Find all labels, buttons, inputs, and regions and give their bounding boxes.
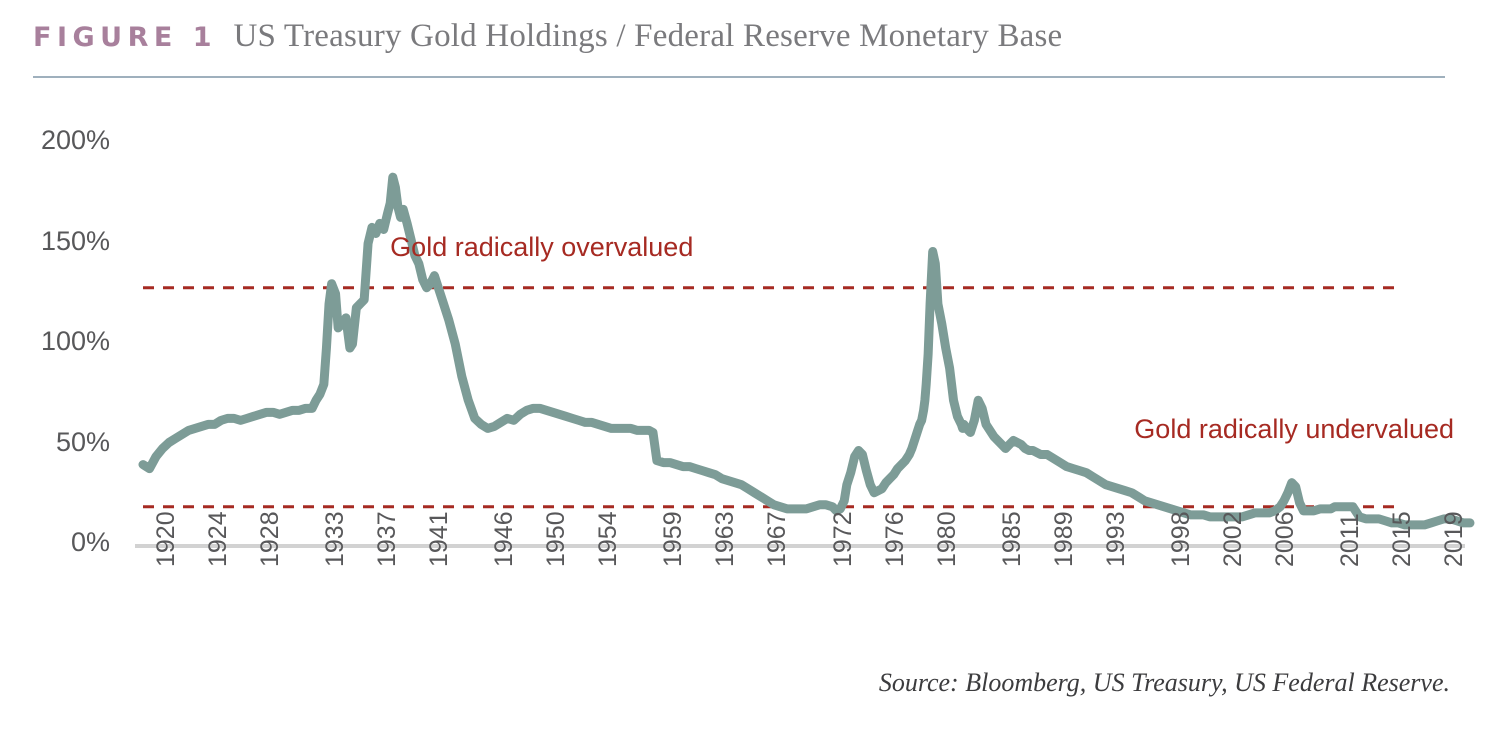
y-axis-tick-label: 150% bbox=[14, 226, 110, 257]
x-axis-tick-label: 1963 bbox=[711, 511, 740, 567]
y-axis-tick-label: 50% bbox=[14, 427, 110, 458]
x-axis-tick-label: 2015 bbox=[1388, 511, 1417, 567]
x-axis-tick-label: 2002 bbox=[1219, 511, 1248, 567]
data-series-group bbox=[143, 177, 1470, 525]
x-axis-tick-label: 1920 bbox=[152, 511, 181, 567]
x-axis-tick-label: 1933 bbox=[321, 511, 350, 567]
y-axis-tick-label: 0% bbox=[14, 527, 110, 558]
header-divider bbox=[33, 76, 1445, 78]
x-axis-tick-label: 1959 bbox=[659, 511, 688, 567]
x-axis-tick-label: 1941 bbox=[425, 511, 454, 567]
figure-title: US Treasury Gold Holdings / Federal Rese… bbox=[233, 18, 1062, 55]
x-axis-tick-label: 1972 bbox=[829, 511, 858, 567]
x-axis-tick-label: 1950 bbox=[542, 511, 571, 567]
line-chart-canvas bbox=[0, 92, 1498, 652]
y-axis-tick-label: 200% bbox=[14, 125, 110, 156]
data-line bbox=[143, 177, 1470, 525]
x-axis-tick-label: 1946 bbox=[490, 511, 519, 567]
source-note: Source: Bloomberg, US Treasury, US Feder… bbox=[879, 668, 1450, 698]
annotation-label-undervalued: Gold radically undervalued bbox=[1134, 414, 1454, 445]
x-axis-tick-label: 1985 bbox=[998, 511, 1027, 567]
chart-plot-area: 200%150%100%50%0% 1920192419281933193719… bbox=[0, 92, 1498, 652]
figure-header: FIGURE 1 US Treasury Gold Holdings / Fed… bbox=[0, 0, 1498, 92]
y-axis-tick-label: 100% bbox=[14, 326, 110, 357]
x-axis-tick-label: 1976 bbox=[881, 511, 910, 567]
x-axis-tick-label: 1989 bbox=[1050, 511, 1079, 567]
x-axis-tick-label: 1924 bbox=[204, 511, 233, 567]
x-axis-tick-label: 2006 bbox=[1271, 511, 1300, 567]
x-axis-tick-label: 1967 bbox=[763, 511, 792, 567]
x-axis-tick-label: 2019 bbox=[1440, 511, 1469, 567]
x-axis-tick-label: 1998 bbox=[1167, 511, 1196, 567]
figure-number-label: FIGURE 1 bbox=[33, 22, 217, 53]
x-axis-tick-label: 2011 bbox=[1336, 513, 1365, 567]
x-axis-tick-label: 1980 bbox=[933, 511, 962, 567]
x-axis-tick-label: 1937 bbox=[373, 511, 402, 567]
x-axis-tick-label: 1954 bbox=[594, 511, 623, 567]
title-row: FIGURE 1 US Treasury Gold Holdings / Fed… bbox=[33, 18, 1062, 55]
annotation-label-overvalued: Gold radically overvalued bbox=[390, 232, 693, 263]
x-axis-tick-label: 1993 bbox=[1102, 511, 1131, 567]
x-axis-tick-label: 1928 bbox=[256, 511, 285, 567]
